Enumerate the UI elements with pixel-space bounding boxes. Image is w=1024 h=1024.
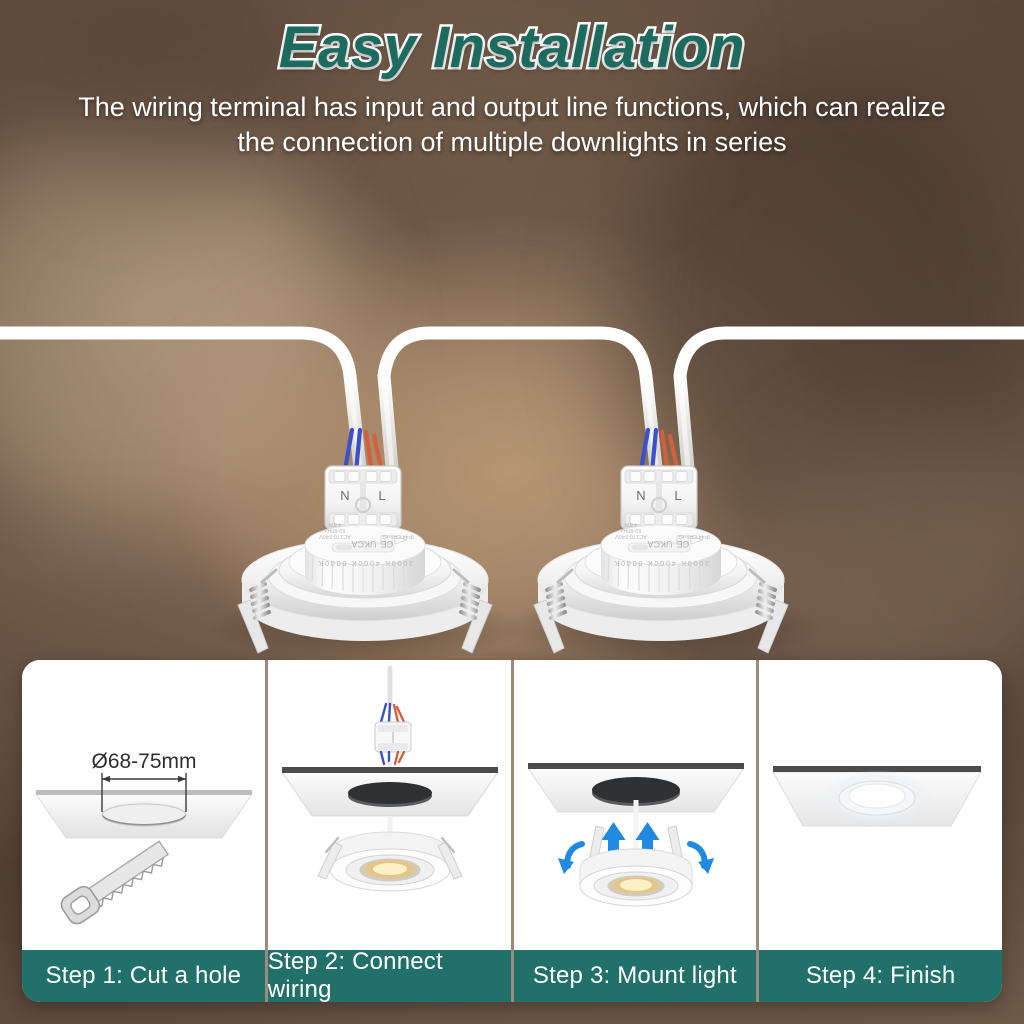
infographic-root: Easy Installation The wiring terminal ha…: [0, 0, 1024, 1024]
driver-spec-power: 4-6W: [624, 521, 638, 527]
step-3-illustration: [514, 660, 757, 950]
step-4-illustration: [759, 660, 1002, 950]
driver-spec-power: 4-6W: [328, 521, 342, 527]
arrow-rotate-right-head: [698, 858, 714, 874]
terminal-n-label: N: [636, 488, 645, 503]
hero-wiring-illustration: N L: [0, 150, 1024, 660]
driver-cct-options: 3000K 4000K 6000K: [317, 559, 413, 568]
driver-cct-options: 3000K 4000K 6000K: [613, 559, 709, 568]
terminal-n-label: N: [340, 488, 349, 503]
terminal-l-label: L: [378, 488, 385, 503]
step-card-2: Step 2: Connect wiring: [265, 660, 511, 1002]
terminal-block-small: [375, 722, 411, 752]
downlight-fixture: [580, 849, 692, 906]
step-card-1: Ø68-75mm Step 1: Cut a hole: [22, 660, 265, 1002]
driver-body-right: 3000K 4000K 6000K CE UKCA AC170-240V 50-…: [601, 521, 721, 595]
wiring-terminal-left: N L: [325, 466, 401, 530]
arrow-rotate-left-head: [558, 858, 574, 874]
driver-body-left: 3000K 4000K 6000K CE UKCA AC170-240V 50-…: [305, 521, 425, 595]
step-1-illustration: Ø68-75mm: [22, 660, 265, 950]
cable-run: [0, 333, 1024, 468]
step-3-label: Step 3: Mount light: [514, 950, 757, 1002]
step-card-4: Step 4: Finish: [756, 660, 1002, 1002]
downlight-fixture: [318, 832, 462, 891]
wiring-terminal-right: N L: [621, 466, 697, 530]
step-1-annotation: Ø68-75mm: [91, 750, 196, 773]
terminal-l-label: L: [674, 488, 681, 503]
step-4-label: Step 4: Finish: [759, 950, 1002, 1002]
step-2-illustration: [268, 660, 511, 950]
page-subtitle: The wiring terminal has input and output…: [60, 90, 964, 159]
hand-saw-icon: [58, 836, 173, 927]
driver-marks-ukca: UKCA: [647, 539, 672, 549]
step-2-label: Step 2: Connect wiring: [268, 950, 511, 1002]
step-card-3: Step 3: Mount light: [511, 660, 757, 1002]
page-title: Easy Installation: [0, 14, 1024, 81]
step-1-label: Step 1: Cut a hole: [22, 950, 265, 1002]
installation-steps-panel: Ø68-75mm Step 1: Cut a hole: [22, 660, 1002, 1002]
driver-marks-ukca: UKCA: [351, 539, 376, 549]
